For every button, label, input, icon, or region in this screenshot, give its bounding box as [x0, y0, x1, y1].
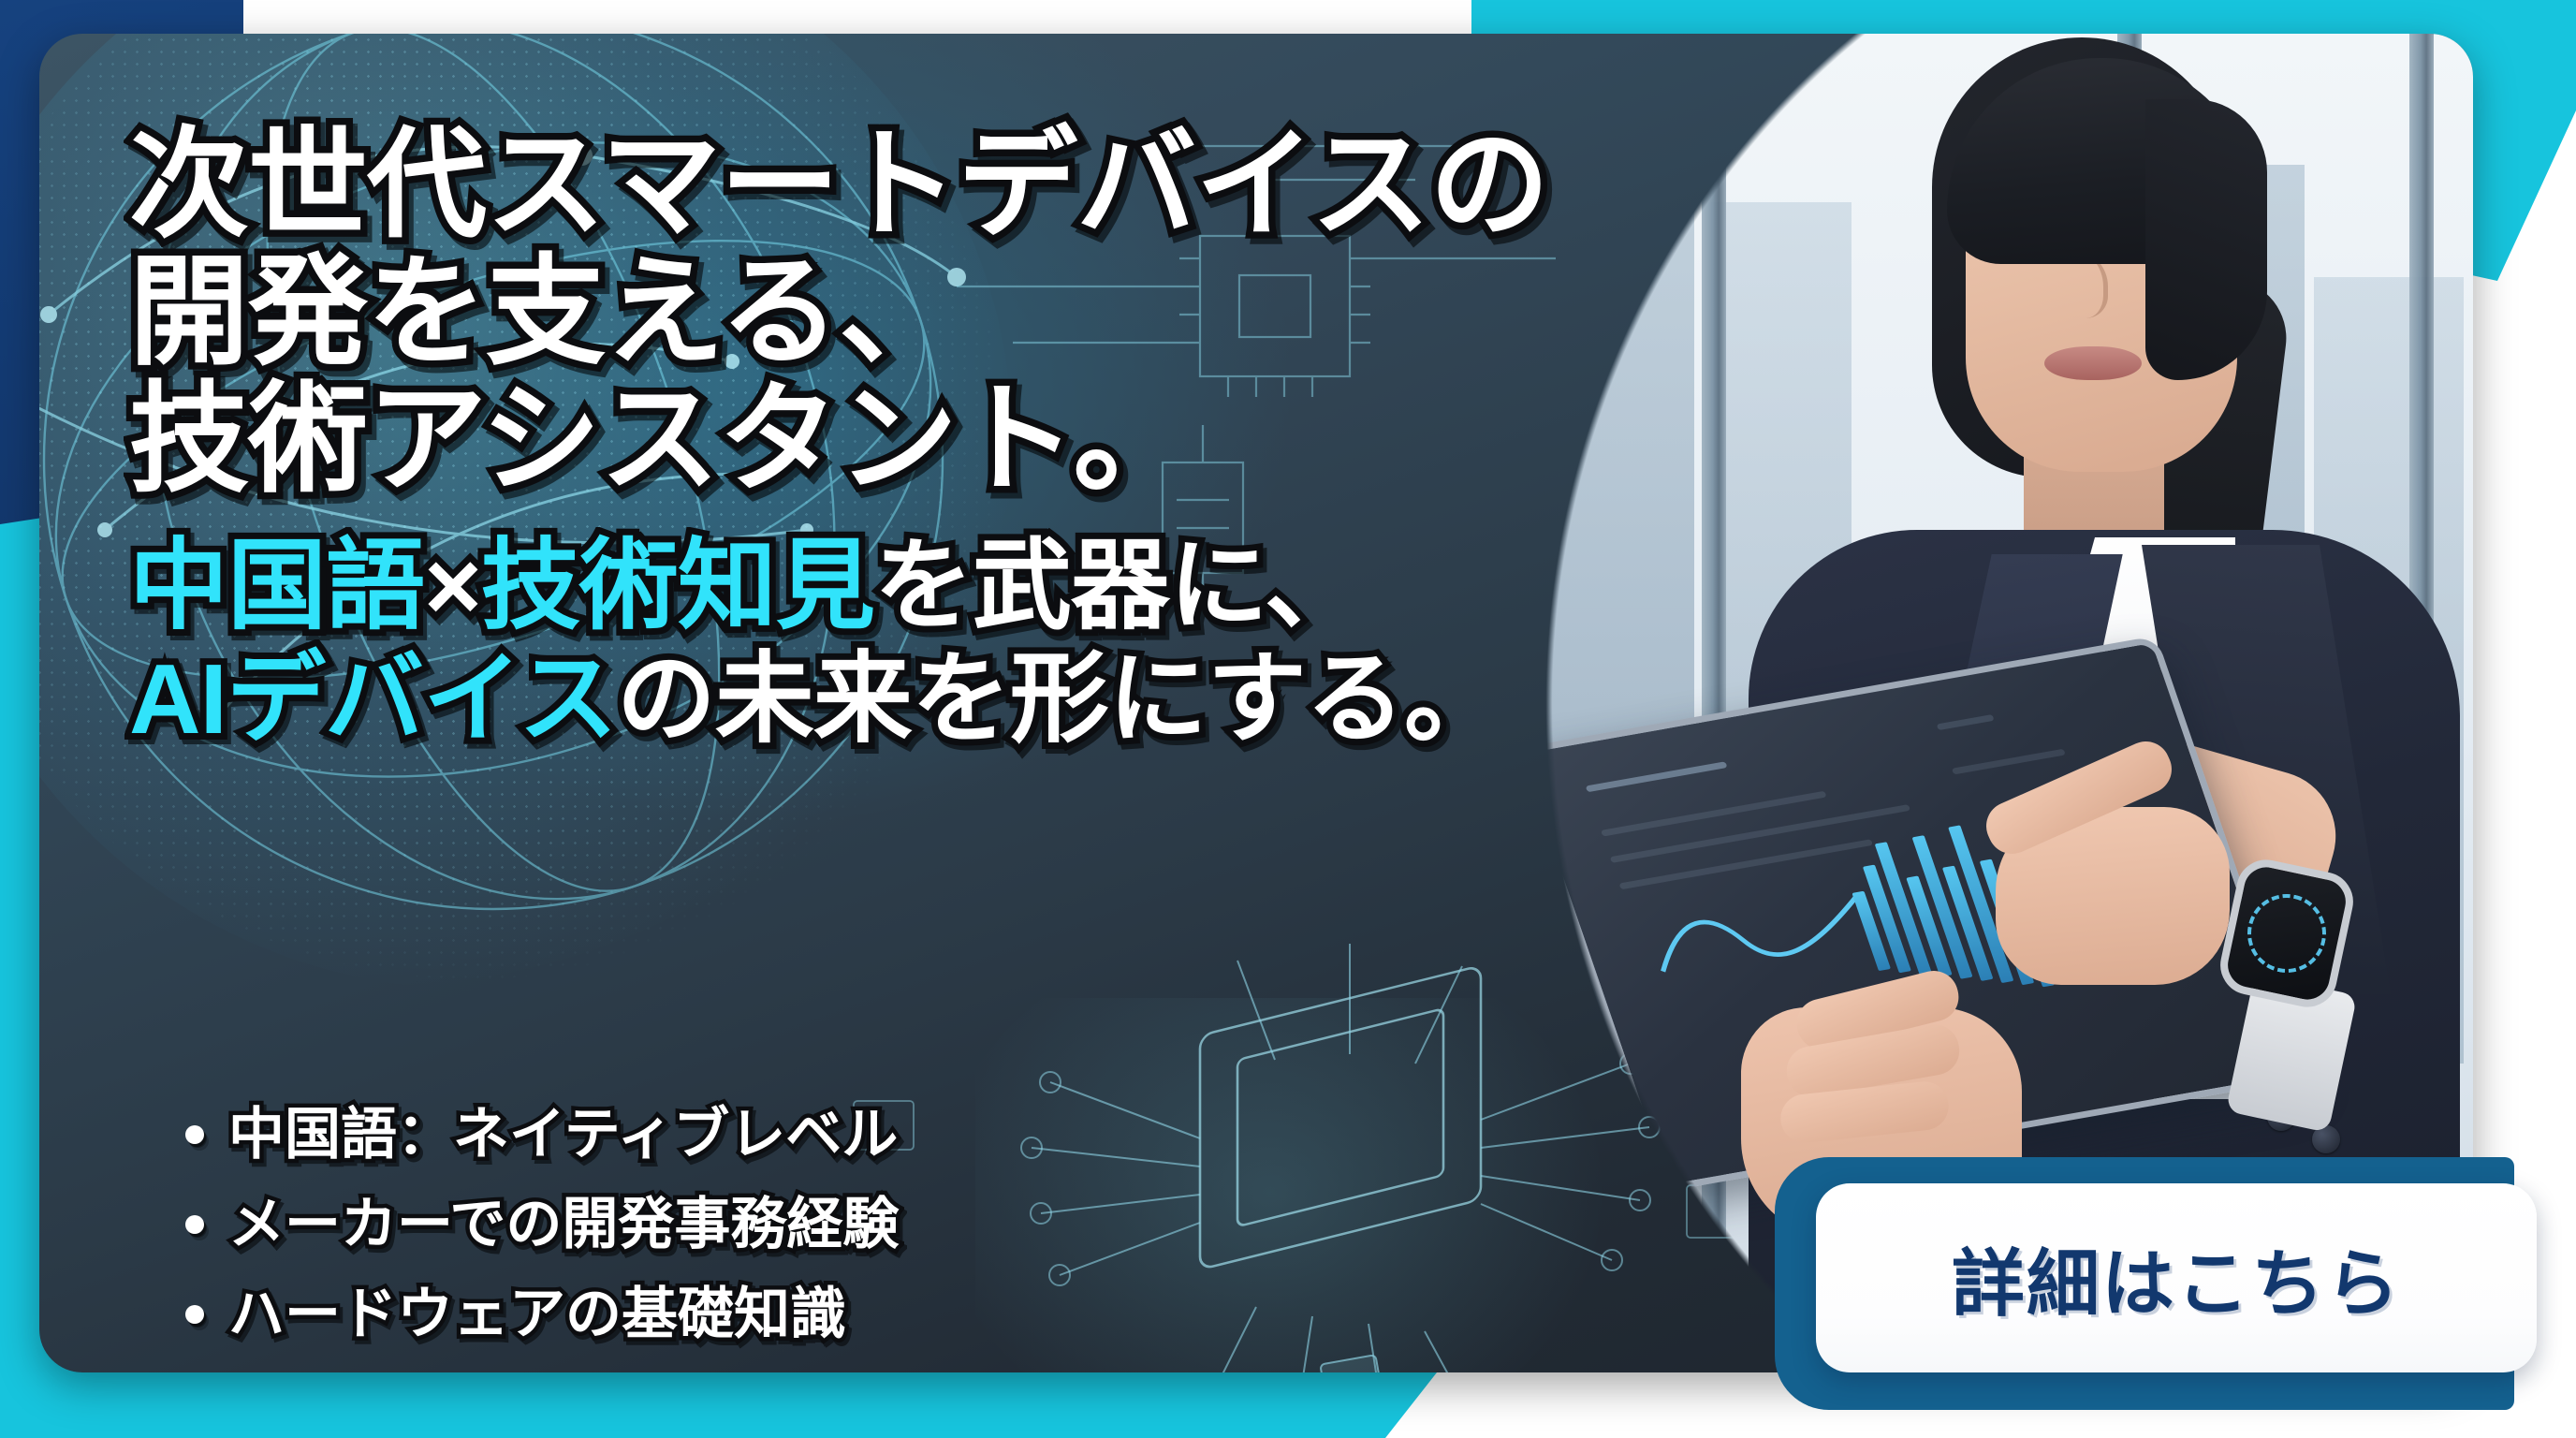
subhead-rest-2: の未来を形にする。	[617, 644, 1502, 755]
promo-banner: 次世代スマートデバイスの 開発を支える、 技術アシスタント。 中国語×技術知見を…	[0, 0, 2576, 1438]
list-item: 中国語：ネイティブレベル	[185, 1107, 1309, 1163]
watch-dial	[2240, 887, 2334, 980]
subhead-highlight-chinese: 中国語	[129, 531, 424, 641]
tablet-line-chart	[1640, 879, 1879, 988]
subhead-highlight-ai: AIデバイス	[129, 644, 617, 755]
list-item: ハードウェアの基礎知識	[185, 1286, 1309, 1343]
list-item-label: メーカーでの開発事務経験	[228, 1196, 899, 1253]
subhead-line-1: 中国語×技術知見を武器に、	[129, 533, 1589, 639]
bullet-dot-icon	[185, 1215, 204, 1234]
bullet-dot-icon	[185, 1125, 204, 1144]
mouth	[2044, 346, 2142, 380]
headline-line-1: 次世代スマートデバイスの	[129, 124, 1589, 247]
subhead-highlight-tech: 技術知見	[481, 531, 874, 641]
subhead-block: 中国語×技術知見を武器に、 AIデバイスの未来を形にする。	[129, 533, 1589, 753]
feature-list: 中国語：ネイティブレベル メーカーでの開発事務経験 ハードウェアの基礎知識	[185, 1107, 1309, 1372]
details-cta-button[interactable]: 詳細はこちら	[1816, 1183, 2537, 1372]
bullet-dot-icon	[185, 1305, 204, 1324]
hair-sweep	[2145, 99, 2267, 380]
list-item: メーカーでの開発事務経験	[185, 1196, 1309, 1253]
subhead-rest-1: を武器に、	[874, 531, 1363, 641]
list-item-label: ハードウェアの基礎知識	[228, 1286, 846, 1343]
cta-label: 詳細はこちら	[1952, 1225, 2401, 1330]
headline-block: 次世代スマートデバイスの 開発を支える、 技術アシスタント。 中国語×技術知見を…	[129, 124, 1589, 758]
subhead-cross-icon: ×	[424, 531, 481, 641]
headline-line-2: 開発を支える、	[129, 251, 1589, 374]
headline-line-3: 技術アシスタント。	[129, 378, 1589, 502]
list-item-label: 中国語：ネイティブレベル	[228, 1107, 898, 1163]
subhead-line-2: AIデバイスの未来を形にする。	[129, 646, 1589, 753]
